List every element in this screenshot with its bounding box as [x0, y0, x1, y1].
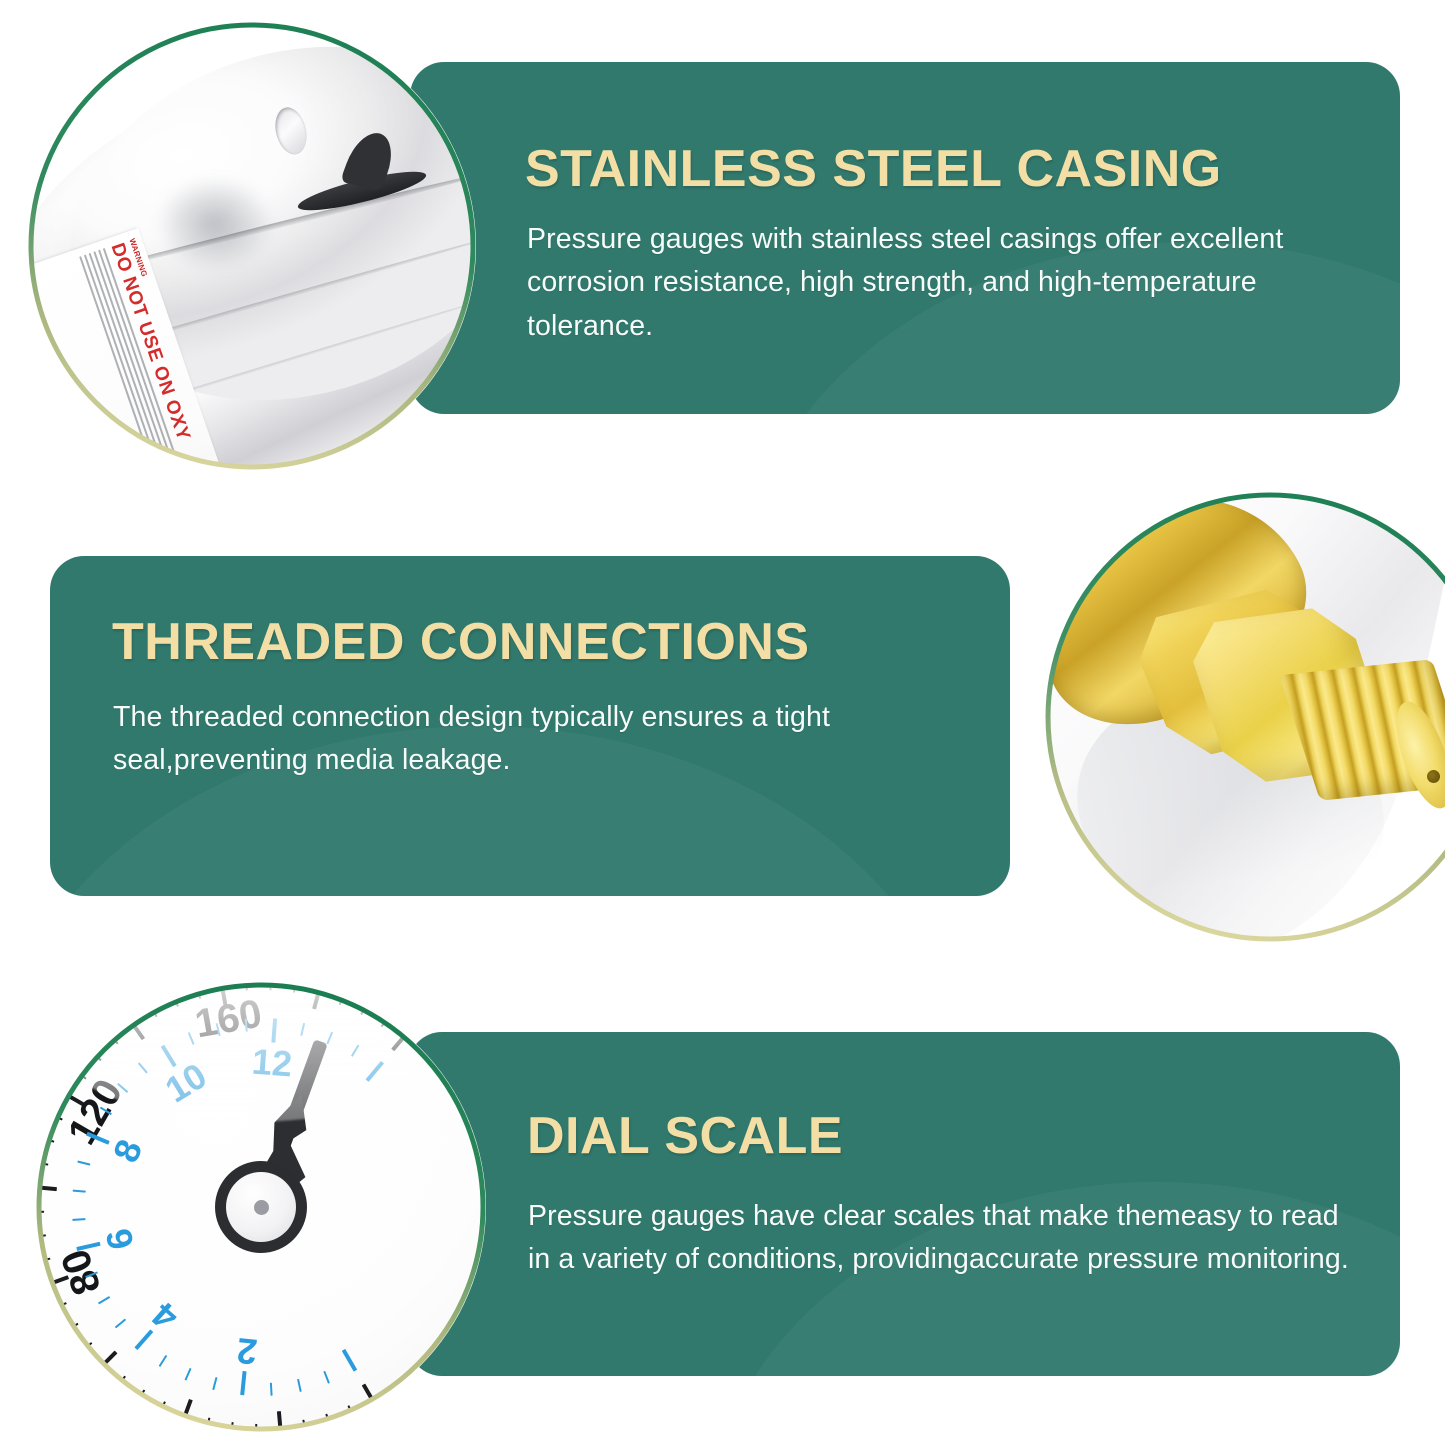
feature-body-stainless-steel-casing: Pressure gauges with stainless steel cas… — [527, 218, 1287, 348]
steel-blur-shadow — [155, 176, 275, 272]
needle-hub-dot — [254, 1200, 269, 1215]
gauge-label-bar-2: 2 — [235, 1333, 259, 1371]
feature-body-dial-scale: Pressure gauges have clear scales that m… — [528, 1195, 1368, 1282]
gauge-label-psi-80: 80 — [55, 1245, 108, 1300]
gauge-label-bar-8: 8 — [107, 1135, 148, 1167]
feature-heading-dial-scale: DIAL SCALE — [527, 1110, 843, 1162]
photo-clip: WARNING DO NOT USE ON OXY — [32, 26, 472, 466]
photo-clip — [1049, 496, 1445, 938]
photo-circle-stainless-steel-casing: WARNING DO NOT USE ON OXY — [28, 22, 476, 470]
feature-heading-stainless-steel-casing: STAINLESS STEEL CASING — [525, 143, 1222, 195]
gauge-dial-face: 8012016024681012 — [40, 986, 482, 1428]
gauge-label-bar-6: 6 — [100, 1226, 140, 1254]
photo-circle-dial-scale: 8012016024681012 — [36, 982, 486, 1432]
gauge-label-bar-10: 10 — [159, 1058, 212, 1110]
gauge-label-psi-160: 160 — [192, 994, 265, 1045]
feature-body-threaded-connections: The threaded connection design typically… — [113, 696, 873, 783]
photo-circle-threaded-connections — [1045, 492, 1445, 942]
photo-clip: 8012016024681012 — [40, 986, 482, 1428]
feature-heading-threaded-connections: THREADED CONNECTIONS — [112, 616, 810, 668]
gauge-case: 8012016024681012 — [40, 986, 482, 1428]
gauge-label-bar-4: 4 — [146, 1296, 185, 1336]
infographic-canvas: STAINLESS STEEL CASING Pressure gauges w… — [0, 0, 1445, 1445]
gauge-label-bar-12: 12 — [251, 1043, 294, 1082]
